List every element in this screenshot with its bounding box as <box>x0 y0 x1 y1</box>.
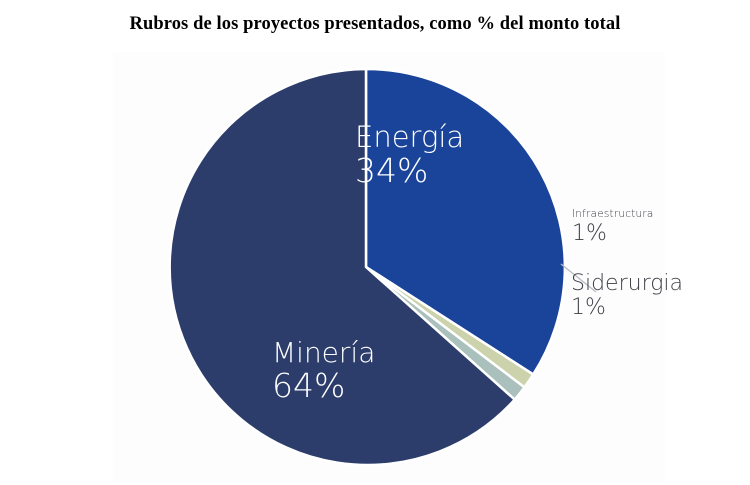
slice-label-siderurgia-name: Siderurgia <box>571 272 683 296</box>
slice-label-infraestructura: Infraestructura 1% <box>572 209 654 246</box>
slice-label-energia: Energía 34% <box>355 122 464 189</box>
slice-label-siderurgia-value: 1% <box>571 296 683 320</box>
slice-label-mineria-name: Minería <box>272 338 375 368</box>
slice-label-mineria-value: 64% <box>272 368 375 404</box>
slice-label-energia-name: Energía <box>355 122 464 153</box>
slice-label-infraestructura-value: 1% <box>572 222 654 246</box>
slice-label-energia-value: 34% <box>355 153 464 189</box>
slice-label-siderurgia: Siderurgia 1% <box>571 272 683 320</box>
slice-label-mineria: Minería 64% <box>272 338 375 404</box>
slice-label-infraestructura-name: Infraestructura <box>572 209 654 220</box>
pie-chart-figure: Rubros de los proyectos presentados, com… <box>0 0 750 485</box>
